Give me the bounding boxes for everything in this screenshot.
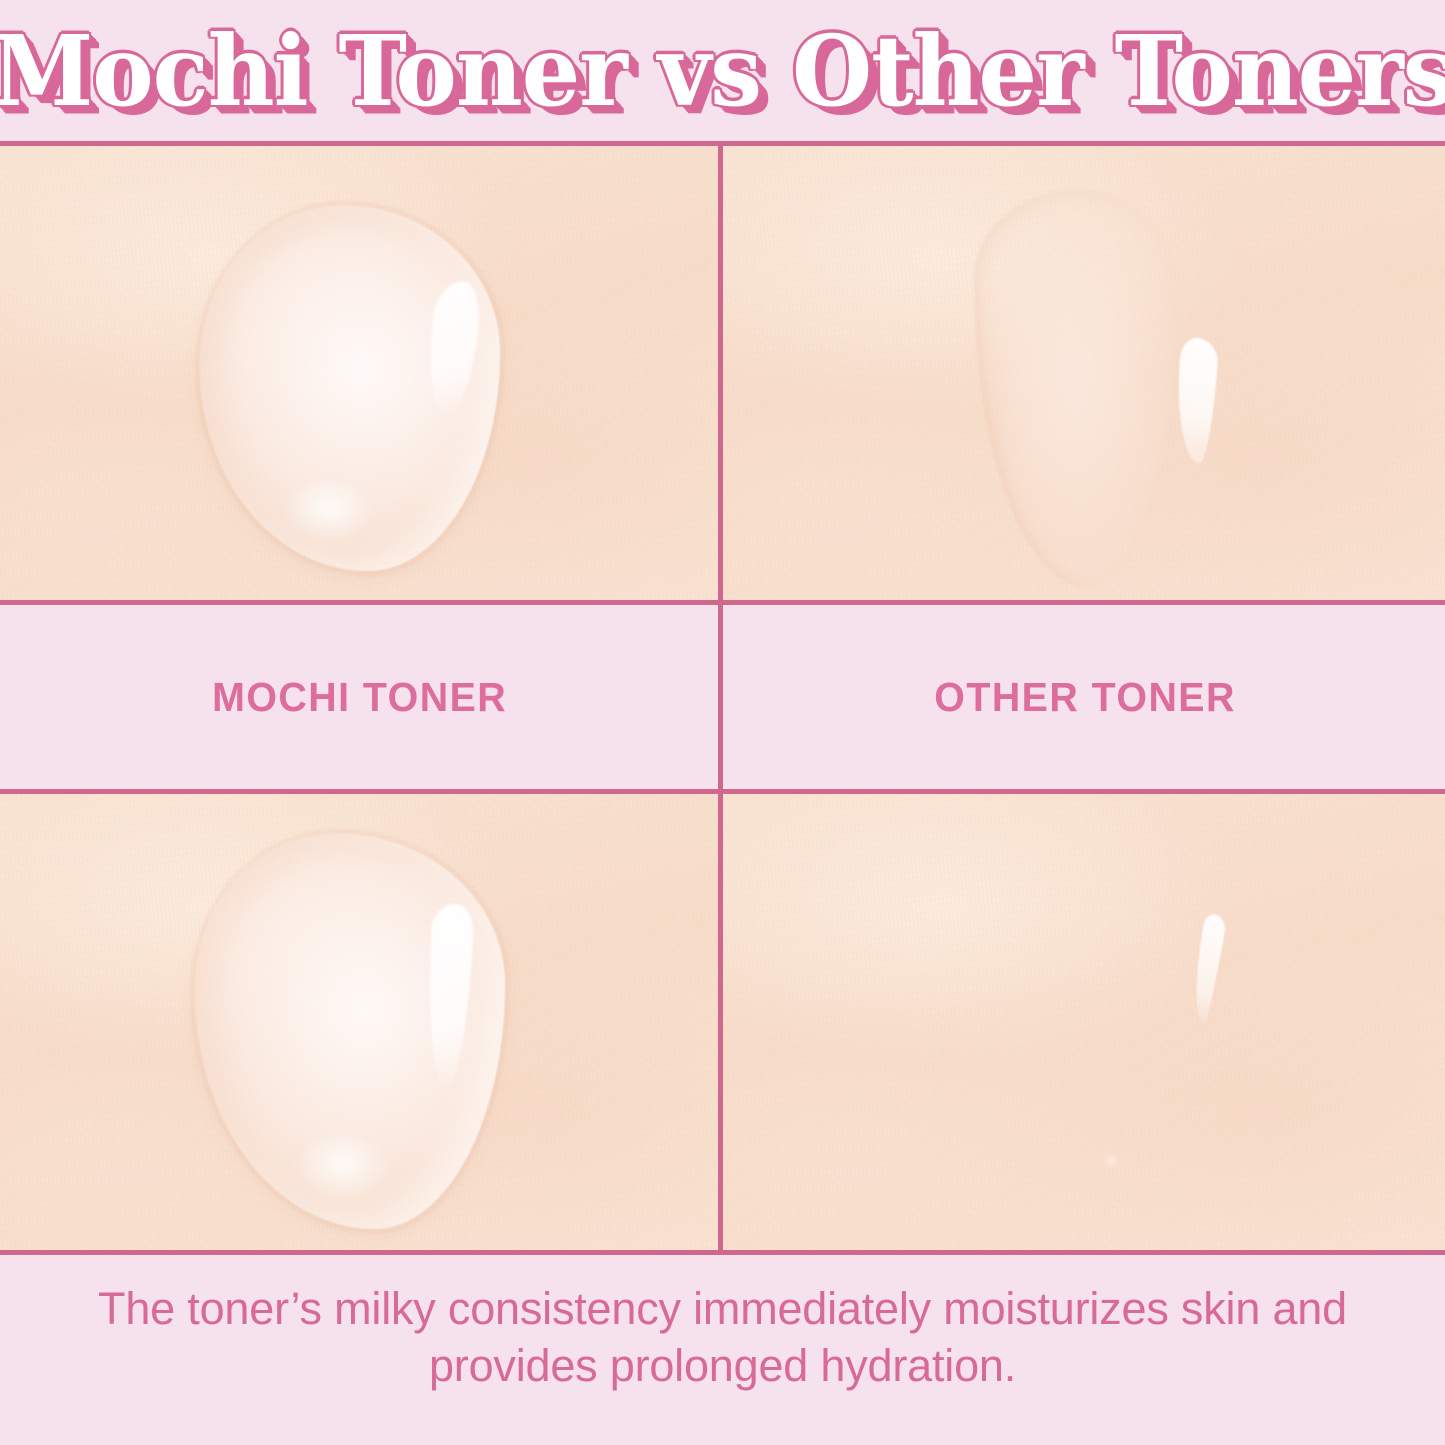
skin-texture [723,146,1445,600]
caption-text: The toner’s milky consistency immediatel… [43,1281,1403,1394]
swatch-mochi-toner-bottom [0,794,718,1250]
swatch-other-toner-top [723,146,1445,600]
swatch-mochi-toner-top [0,146,718,600]
header-band: Mochi Toner vs Other Toners [0,0,1445,141]
caption-band: The toner’s milky consistency immediatel… [0,1255,1445,1445]
label-mochi-toner: MOCHI TONER [212,674,507,721]
label-other-toner: OTHER TONER [934,674,1236,721]
swatch-other-toner-bottom [723,794,1445,1250]
label-cell-mochi: MOCHI TONER [0,605,725,789]
label-cell-other: OTHER TONER [725,605,1445,789]
skin-texture [0,794,718,1250]
skin-texture [0,146,718,600]
page-title: Mochi Toner vs Other Toners [0,22,1445,120]
skin-texture [723,794,1445,1250]
divider-vertical [718,141,723,1255]
toner-comparison-infographic: Mochi Toner vs Other Toners MOCHI TONER … [0,0,1445,1445]
